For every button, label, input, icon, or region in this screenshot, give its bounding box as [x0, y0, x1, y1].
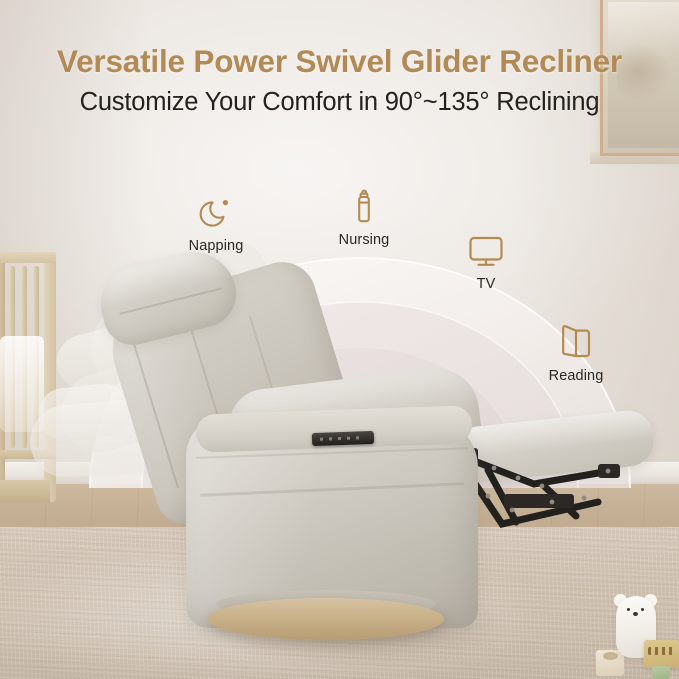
- activity-badge-label: Nursing: [339, 232, 390, 248]
- open-book-icon: [530, 320, 622, 364]
- activity-badge-label: Napping: [189, 238, 244, 254]
- teddy-bear-eye-right: [641, 608, 644, 611]
- activity-badge-nursing: Nursing: [318, 186, 410, 249]
- crescent-moon-star-icon: [170, 192, 262, 234]
- headline-block: Versatile Power Swivel Glider Recliner C…: [0, 44, 679, 118]
- wood-swivel-base: [208, 598, 444, 640]
- teddy-bear-eye-left: [627, 608, 630, 611]
- page-title: Versatile Power Swivel Glider Recliner: [0, 44, 679, 79]
- activity-badge-napping: Napping: [170, 192, 262, 255]
- activity-badge-label: Reading: [549, 368, 604, 384]
- page-subtitle: Customize Your Comfort in 90°~135° Recli…: [0, 88, 679, 117]
- activity-badge-label: TV: [477, 276, 496, 292]
- tv-monitor-icon: [440, 232, 532, 272]
- activity-badge-reading: Reading: [530, 320, 622, 385]
- product-marketing-image: Versatile Power Swivel Glider Recliner C…: [0, 0, 679, 679]
- wooden-block-opening: [603, 652, 618, 660]
- xylophone-keys: [648, 647, 676, 655]
- baby-bottle-icon: [318, 186, 410, 228]
- teddy-bear-nose: [633, 612, 638, 616]
- recliner-metal-mechanism: [448, 440, 658, 532]
- activity-badge-tv: TV: [440, 232, 532, 293]
- green-toy-block: [652, 666, 670, 679]
